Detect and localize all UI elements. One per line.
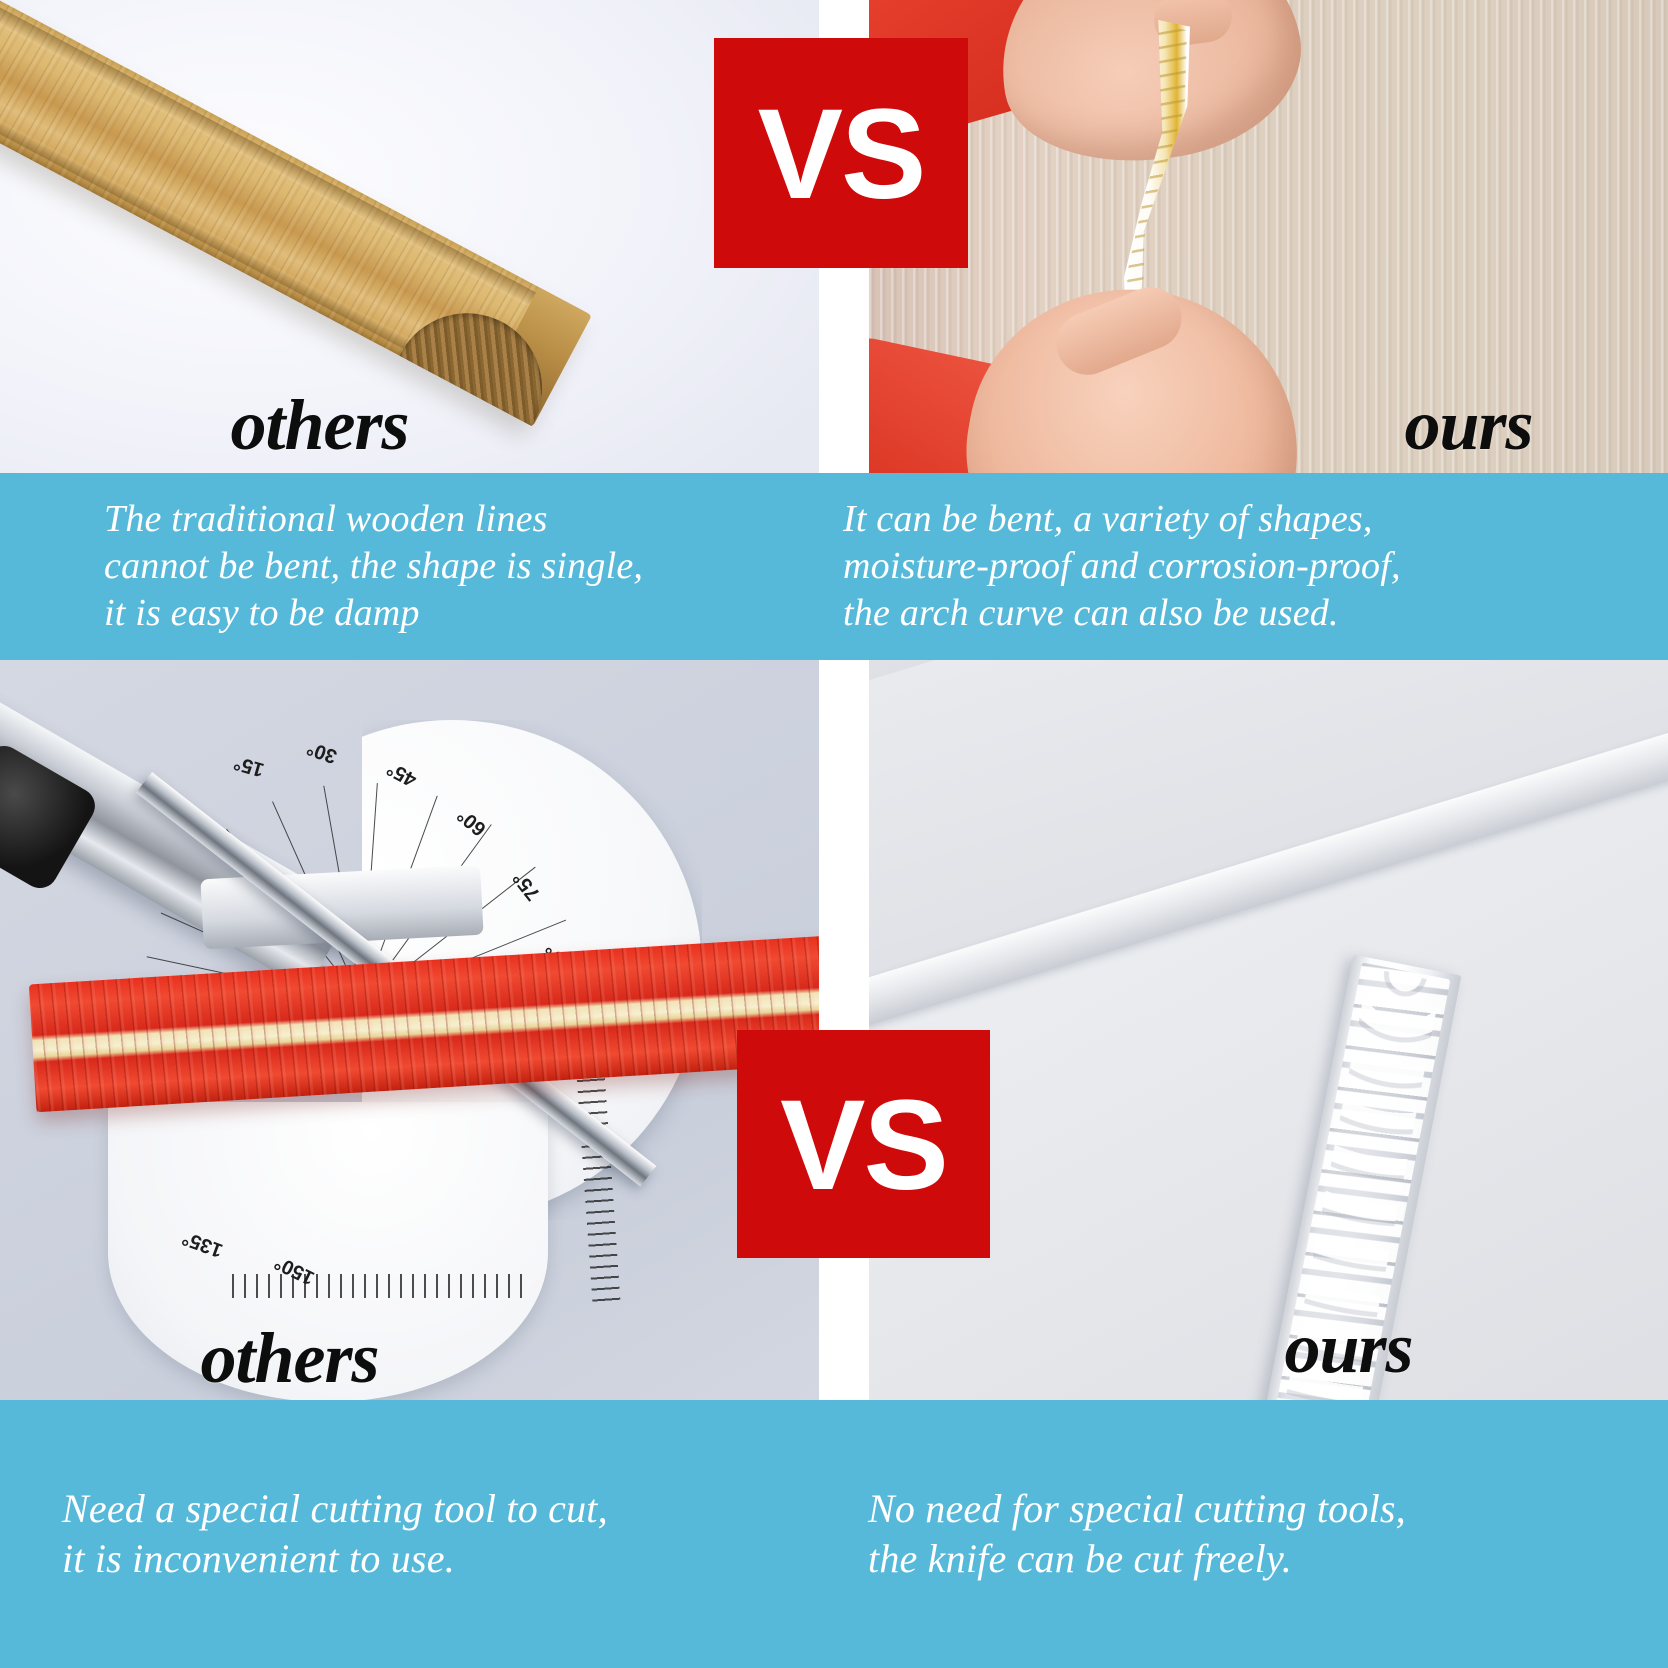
photo-others-cutting-tool: 15° 30° 45° 60° 75° 105° 120° 135° 150° … [0, 660, 819, 1400]
label-ours-top: ours [1069, 384, 1668, 467]
caption-cell-others-bottom: Need a special cutting tool to cut, it i… [0, 1400, 834, 1668]
label-others-bottom: others [0, 1317, 699, 1400]
label-ours-bottom: ours [949, 1307, 1668, 1390]
caption-ours-top: It can be bent, a variety of shapes, moi… [843, 496, 1401, 637]
protractor-miter-tool: 15° 30° 45° 60° 75° 105° 120° 135° 150° [62, 702, 682, 1322]
comparison-infographic: others ours VS The traditional wooden li… [0, 0, 1668, 1668]
vs-badge-top: VS [714, 38, 968, 268]
vs-badge-top-label: VS [758, 91, 925, 219]
label-others-top: others [0, 384, 729, 467]
caption-cell-ours-bottom: No need for special cutting tools, the k… [834, 1400, 1668, 1668]
photo-others-wooden-molding: others [0, 0, 819, 473]
angle-mark-15: 15° [231, 750, 266, 780]
caption-band-bottom: Need a special cutting tool to cut, it i… [0, 1400, 1668, 1668]
caption-cell-others-top: The traditional wooden lines cannot be b… [0, 473, 820, 660]
vs-badge-bottom-label: VS [780, 1082, 947, 1210]
angle-mark-30: 30° [304, 736, 340, 768]
wooden-molding-illustration [0, 0, 720, 440]
caption-ours-bottom: No need for special cutting tools, the k… [868, 1484, 1406, 1583]
caption-others-bottom: Need a special cutting tool to cut, it i… [62, 1484, 608, 1583]
caption-others-top: The traditional wooden lines cannot be b… [104, 496, 643, 637]
caption-cell-ours-top: It can be bent, a variety of shapes, moi… [834, 473, 1668, 660]
caption-band-top: The traditional wooden lines cannot be b… [0, 473, 1668, 660]
protractor-ticks-bottom [232, 1274, 532, 1298]
photo-ours-bendable-molding: ours [869, 0, 1668, 473]
red-molding-workpiece [29, 936, 819, 1113]
vs-badge-bottom: VS [737, 1030, 990, 1258]
